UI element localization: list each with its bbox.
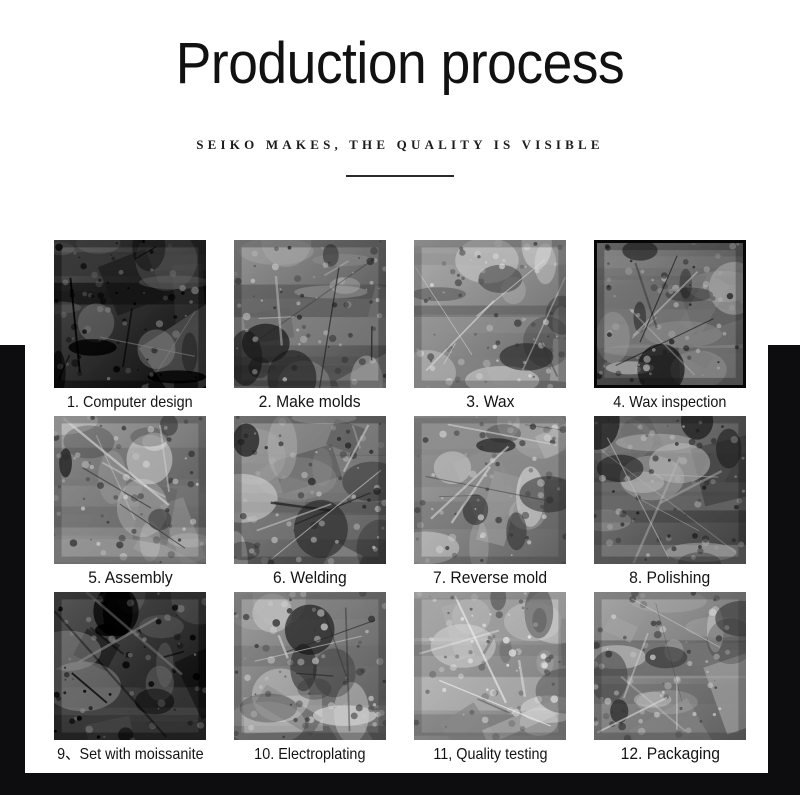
- quality-testing-photo: [414, 592, 566, 740]
- wax-inspection-photo: [594, 240, 746, 388]
- step-card-11[interactable]: 11, Quality testing: [400, 592, 580, 768]
- packaging-photo: [594, 592, 746, 740]
- step-card-6[interactable]: 6. Welding: [220, 416, 400, 592]
- set-moissanite-photo: [54, 592, 206, 740]
- step-caption-4: 4. Wax inspection: [613, 393, 726, 412]
- step-caption-1: 1. Computer design: [67, 393, 193, 412]
- computer-design-photo: [54, 240, 206, 388]
- left-accent-bar: [0, 345, 25, 795]
- step-caption-10: 10. Electroplating: [254, 745, 365, 764]
- step-caption-6: 6. Welding: [273, 569, 347, 589]
- step-caption-11: 11, Quality testing: [433, 745, 547, 764]
- step-card-5[interactable]: 5. Assembly: [40, 416, 220, 592]
- step-card-1[interactable]: 1. Computer design: [40, 240, 220, 416]
- welding-photo: [234, 416, 386, 564]
- production-steps-grid: 1. Computer design2. Make molds3. Wax4. …: [40, 240, 760, 768]
- step-caption-2: 2. Make molds: [259, 393, 361, 413]
- reverse-mold-photo: [414, 416, 566, 564]
- step-caption-7: 7. Reverse mold: [433, 569, 547, 589]
- electroplating-photo: [234, 592, 386, 740]
- step-caption-3: 3. Wax: [466, 393, 514, 413]
- page-header: Production process SEIKO MAKES, THE QUAL…: [0, 0, 800, 177]
- polishing-photo: [594, 416, 746, 564]
- step-card-9[interactable]: 9、Set with moissanite: [40, 592, 220, 768]
- step-caption-5: 5. Assembly: [88, 569, 173, 589]
- wax-photo: [414, 240, 566, 388]
- step-card-10[interactable]: 10. Electroplating: [220, 592, 400, 768]
- step-caption-8: 8. Polishing: [629, 569, 710, 589]
- make-molds-photo: [234, 240, 386, 388]
- title-divider: [346, 175, 454, 177]
- step-caption-12: 12. Packaging: [620, 745, 719, 765]
- step-card-7[interactable]: 7. Reverse mold: [400, 416, 580, 592]
- right-accent-bar: [768, 345, 800, 795]
- step-card-12[interactable]: 12. Packaging: [580, 592, 760, 768]
- step-card-2[interactable]: 2. Make molds: [220, 240, 400, 416]
- step-card-8[interactable]: 8. Polishing: [580, 416, 760, 592]
- step-card-4[interactable]: 4. Wax inspection: [580, 240, 760, 416]
- page-subtitle: SEIKO MAKES, THE QUALITY IS VISIBLE: [0, 137, 800, 153]
- assembly-photo: [54, 416, 206, 564]
- bottom-accent-bar: [0, 773, 800, 795]
- page-title: Production process: [32, 34, 768, 95]
- step-caption-9: 9、Set with moissanite: [57, 745, 203, 764]
- step-card-3[interactable]: 3. Wax: [400, 240, 580, 416]
